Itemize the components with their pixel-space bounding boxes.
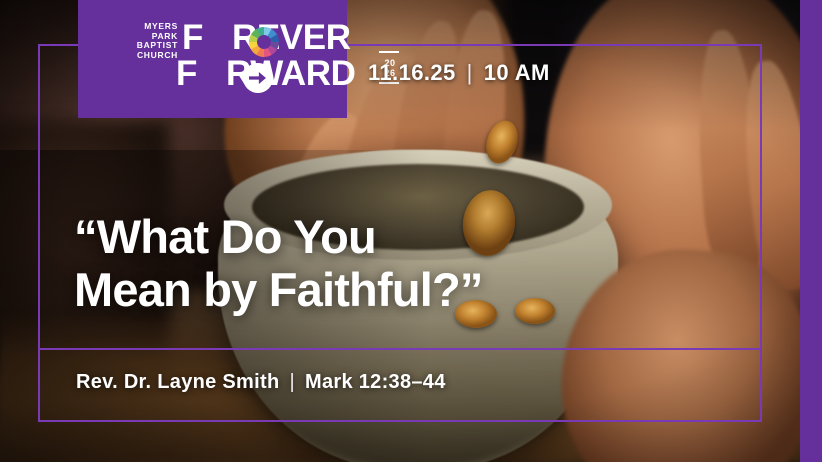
- sermon-title-line-2: Mean by Faithful?”: [74, 263, 483, 316]
- scripture-reference: Mark 12:38–44: [305, 371, 446, 393]
- campaign-line1-f: F: [182, 18, 203, 57]
- sermon-title: “What Do You Mean by Faithful?”: [74, 210, 483, 316]
- sermon-graphic: MYERS PARK BAPTIST CHURCH FREVER FRWARD …: [0, 0, 822, 462]
- event-datetime: 11.16.25|10 AM: [368, 60, 550, 86]
- event-time: 10 AM: [484, 60, 550, 85]
- datetime-separator: |: [456, 60, 484, 86]
- color-wheel-icon: [249, 27, 279, 57]
- frame-divider-line: [38, 348, 762, 350]
- right-accent-bar: [800, 0, 822, 462]
- sermon-title-line-1: “What Do You: [74, 210, 483, 263]
- speaker-separator: |: [279, 371, 305, 394]
- forward-arrow-icon: [243, 63, 273, 93]
- speaker-and-scripture: Rev. Dr. Layne Smith|Mark 12:38–44: [76, 371, 446, 394]
- church-name: MYERS PARK BAPTIST CHURCH: [94, 22, 178, 60]
- logo-block: MYERS PARK BAPTIST CHURCH FREVER FRWARD …: [78, 0, 347, 118]
- speaker-name: Rev. Dr. Layne Smith: [76, 371, 279, 393]
- event-date: 11.16.25: [368, 60, 456, 85]
- church-name-line-4: CHURCH: [94, 51, 178, 61]
- campaign-line2-f: F: [176, 54, 197, 93]
- year-rule-top: [379, 51, 399, 53]
